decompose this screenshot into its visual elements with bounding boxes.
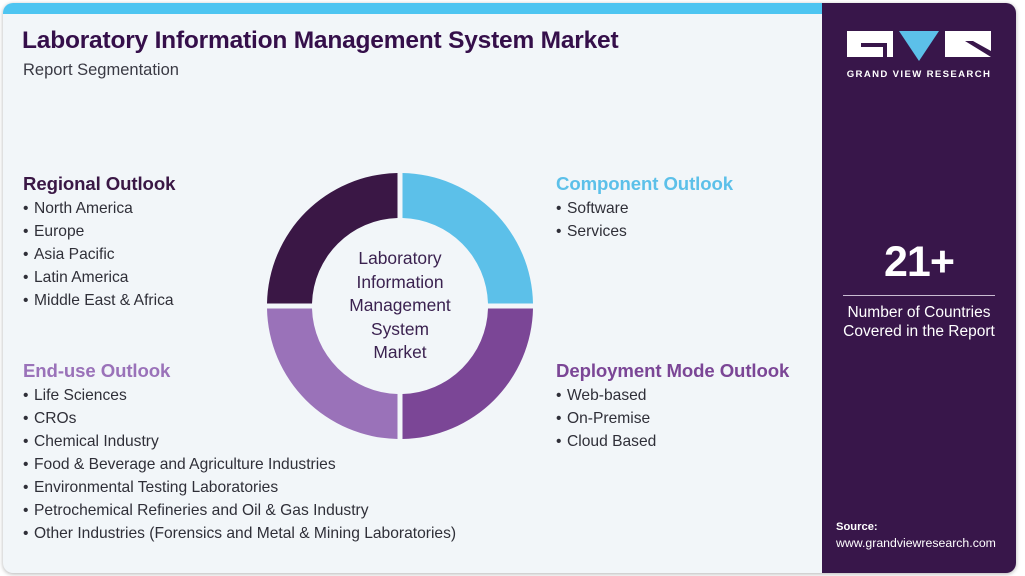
stat-value: 21+: [822, 241, 1016, 284]
source-label: Source:: [836, 519, 1016, 535]
list-item: Cloud Based: [556, 430, 789, 453]
regional-outlook-list: North America Europe Asia Pacific Latin …: [23, 197, 175, 312]
list-item: Services: [556, 220, 733, 243]
report-card: Laboratory Information Management System…: [3, 3, 1016, 573]
section-deployment-mode-outlook: Deployment Mode Outlook Web-based On-Pre…: [556, 360, 789, 453]
list-item: Middle East & Africa: [23, 289, 175, 312]
list-item: North America: [23, 197, 175, 220]
list-item: Europe: [23, 220, 175, 243]
donut-segment-regional: [267, 173, 398, 304]
list-item: Life Sciences: [23, 384, 456, 407]
countries-stat: 21+ Number of Countries Covered in the R…: [822, 241, 1016, 341]
list-item: Food & Beverage and Agriculture Industri…: [23, 453, 456, 476]
enduse-outlook-list: Life Sciences CROs Chemical Industry Foo…: [23, 384, 456, 545]
donut-segment-component: [403, 173, 534, 304]
list-item: Other Industries (Forensics and Metal & …: [23, 522, 456, 545]
page-title: Laboratory Information Management System…: [22, 27, 618, 55]
brand-panel: GRAND VIEW RESEARCH 21+ Number of Countr…: [822, 3, 1016, 573]
section-component-outlook: Component Outlook Software Services: [556, 173, 733, 243]
regional-outlook-heading: Regional Outlook: [23, 173, 175, 195]
stat-divider: [843, 295, 995, 296]
deployment-outlook-list: Web-based On-Premise Cloud Based: [556, 384, 789, 453]
list-item: Asia Pacific: [23, 243, 175, 266]
infographic-canvas: Laboratory Information Management System…: [0, 0, 1025, 576]
brand-logo: GRAND VIEW RESEARCH: [845, 29, 993, 80]
list-item: Environmental Testing Laboratories: [23, 476, 456, 499]
stat-label: Number of Countries Covered in the Repor…: [822, 303, 1016, 341]
list-item: CROs: [23, 407, 456, 430]
deployment-outlook-heading: Deployment Mode Outlook: [556, 360, 789, 382]
list-item: Web-based: [556, 384, 789, 407]
section-regional-outlook: Regional Outlook North America Europe As…: [23, 173, 175, 312]
section-enduse-outlook: End-use Outlook Life Sciences CROs Chemi…: [23, 360, 456, 545]
list-item: On-Premise: [556, 407, 789, 430]
list-item: Petrochemical Refineries and Oil & Gas I…: [23, 499, 456, 522]
gvr-logo-icon: [847, 29, 991, 62]
brand-logo-text: GRAND VIEW RESEARCH: [845, 69, 993, 80]
component-outlook-heading: Component Outlook: [556, 173, 733, 195]
stat-label-line-2: Covered in the Report: [822, 322, 1016, 341]
list-item: Latin America: [23, 266, 175, 289]
source-url[interactable]: www.grandviewresearch.com: [836, 535, 1016, 553]
component-outlook-list: Software Services: [556, 197, 733, 243]
enduse-outlook-heading: End-use Outlook: [23, 360, 456, 382]
list-item: Chemical Industry: [23, 430, 456, 453]
stat-label-line-1: Number of Countries: [822, 303, 1016, 322]
page-subtitle: Report Segmentation: [23, 61, 179, 80]
list-item: Software: [556, 197, 733, 220]
accent-top-bar: [3, 3, 822, 14]
source-block: Source: www.grandviewresearch.com: [836, 519, 1016, 553]
